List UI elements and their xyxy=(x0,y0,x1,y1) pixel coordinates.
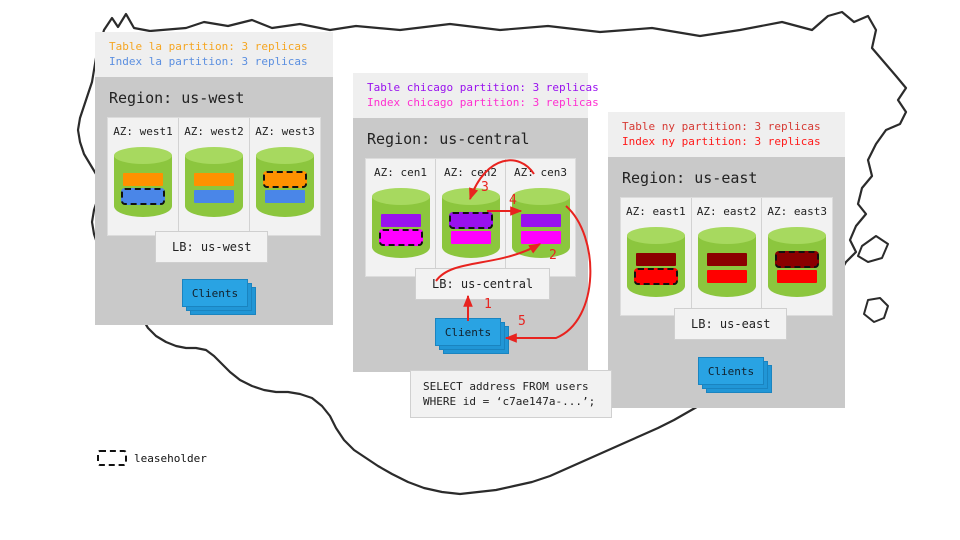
region-header-us-central: Table chicago partition: 3 replicas Inde… xyxy=(353,73,588,118)
index-partition-line: Index chicago partition: 3 replicas xyxy=(367,95,574,110)
load-balancer-us-east[interactable]: LB: us-east xyxy=(674,308,787,340)
index-replica-bar xyxy=(777,270,817,283)
az-east1[interactable]: AZ: east1 xyxy=(621,198,692,315)
region-header-us-east: Table ny partition: 3 replicas Index ny … xyxy=(608,112,845,157)
clients-us-west[interactable]: Clients xyxy=(182,279,246,305)
clients-us-central[interactable]: Clients xyxy=(435,318,499,344)
table-replica-bar xyxy=(521,214,561,227)
index-replica-bar xyxy=(521,231,561,244)
table-replica-bar xyxy=(707,253,747,266)
table-replica-bar-leaseholder xyxy=(449,212,493,229)
arrow-number-1: 1 xyxy=(484,297,492,312)
load-balancer-us-west[interactable]: LB: us-west xyxy=(155,231,268,263)
node-cylinder-west1 xyxy=(114,147,172,225)
clients-label: Clients xyxy=(435,318,501,346)
az-west3[interactable]: AZ: west3 xyxy=(250,118,320,235)
region-header-us-west: Table la partition: 3 replicas Index la … xyxy=(95,32,333,77)
table-partition-line: Table la partition: 3 replicas xyxy=(109,39,319,54)
az-east3[interactable]: AZ: east3 xyxy=(762,198,832,315)
region-title-us-west: Region: us-west xyxy=(95,77,333,117)
clients-us-east[interactable]: Clients xyxy=(698,357,762,383)
index-replica-bar xyxy=(265,190,305,203)
az-row-us-west: AZ: west1 AZ: west2 AZ: west3 xyxy=(107,117,321,236)
arrow-number-5: 5 xyxy=(518,314,526,329)
az-cen2[interactable]: AZ: cen2 xyxy=(436,159,506,276)
az-cen1[interactable]: AZ: cen1 xyxy=(366,159,436,276)
node-cylinder-cen2 xyxy=(442,188,500,266)
index-replica-bar-leaseholder xyxy=(379,229,423,246)
region-panel-us-east: Table ny partition: 3 replicas Index ny … xyxy=(608,112,845,408)
table-replica-bar xyxy=(381,214,421,227)
sql-query-box: SELECT address FROM users WHERE id = ‘c7… xyxy=(410,370,612,418)
az-row-us-east: AZ: east1 AZ: east2 AZ: east3 xyxy=(620,197,833,316)
table-partition-line: Table chicago partition: 3 replicas xyxy=(367,80,574,95)
clients-label: Clients xyxy=(698,357,764,385)
table-partition-line: Table ny partition: 3 replicas xyxy=(622,119,831,134)
az-cen3[interactable]: AZ: cen3 xyxy=(506,159,575,276)
node-cylinder-west3 xyxy=(256,147,314,225)
region-title-us-east: Region: us-east xyxy=(608,157,845,197)
index-replica-bar xyxy=(451,231,491,244)
az-label: AZ: cen3 xyxy=(506,166,575,179)
index-replica-bar-leaseholder xyxy=(634,268,678,285)
clients-label: Clients xyxy=(182,279,248,307)
diagram-canvas: Table la partition: 3 replicas Index la … xyxy=(0,0,960,540)
index-partition-line: Index la partition: 3 replicas xyxy=(109,54,319,69)
node-cylinder-west2 xyxy=(185,147,243,225)
node-cylinder-cen3 xyxy=(512,188,570,266)
table-replica-bar xyxy=(194,173,234,186)
index-replica-bar-leaseholder xyxy=(121,188,165,205)
az-label: AZ: east3 xyxy=(762,205,832,218)
index-replica-bar xyxy=(707,270,747,283)
az-label: AZ: cen1 xyxy=(366,166,435,179)
az-label: AZ: west2 xyxy=(179,125,249,138)
index-partition-line: Index ny partition: 3 replicas xyxy=(622,134,831,149)
arrow-number-3: 3 xyxy=(481,180,489,195)
sql-line-1: SELECT address FROM users xyxy=(423,379,599,394)
table-replica-bar-leaseholder xyxy=(263,171,307,188)
arrow-number-4: 4 xyxy=(509,193,517,208)
az-label: AZ: west1 xyxy=(108,125,178,138)
load-balancer-us-central[interactable]: LB: us-central xyxy=(415,268,550,300)
table-replica-bar xyxy=(636,253,676,266)
az-west2[interactable]: AZ: west2 xyxy=(179,118,250,235)
node-cylinder-east1 xyxy=(627,227,685,305)
node-cylinder-east3 xyxy=(768,227,826,305)
az-label: AZ: east1 xyxy=(621,205,691,218)
legend: leaseholder xyxy=(97,450,207,466)
region-panel-us-west: Table la partition: 3 replicas Index la … xyxy=(95,32,333,325)
node-cylinder-east2 xyxy=(698,227,756,305)
table-replica-bar xyxy=(123,173,163,186)
arrow-number-2: 2 xyxy=(549,248,557,263)
index-replica-bar xyxy=(194,190,234,203)
az-label: AZ: cen2 xyxy=(436,166,505,179)
leaseholder-dashed-box-icon xyxy=(97,450,127,466)
legend-label: leaseholder xyxy=(134,452,207,465)
region-panel-us-central: Table chicago partition: 3 replicas Inde… xyxy=(353,73,588,372)
region-title-us-central: Region: us-central xyxy=(353,118,588,158)
sql-line-2: WHERE id = ‘c7ae147a-...’; xyxy=(423,394,599,409)
node-cylinder-cen1 xyxy=(372,188,430,266)
az-row-us-central: AZ: cen1 AZ: cen2 AZ: cen3 xyxy=(365,158,576,277)
az-west1[interactable]: AZ: west1 xyxy=(108,118,179,235)
table-replica-bar-leaseholder xyxy=(775,251,819,268)
az-label: AZ: east2 xyxy=(692,205,762,218)
az-east2[interactable]: AZ: east2 xyxy=(692,198,763,315)
az-label: AZ: west3 xyxy=(250,125,320,138)
